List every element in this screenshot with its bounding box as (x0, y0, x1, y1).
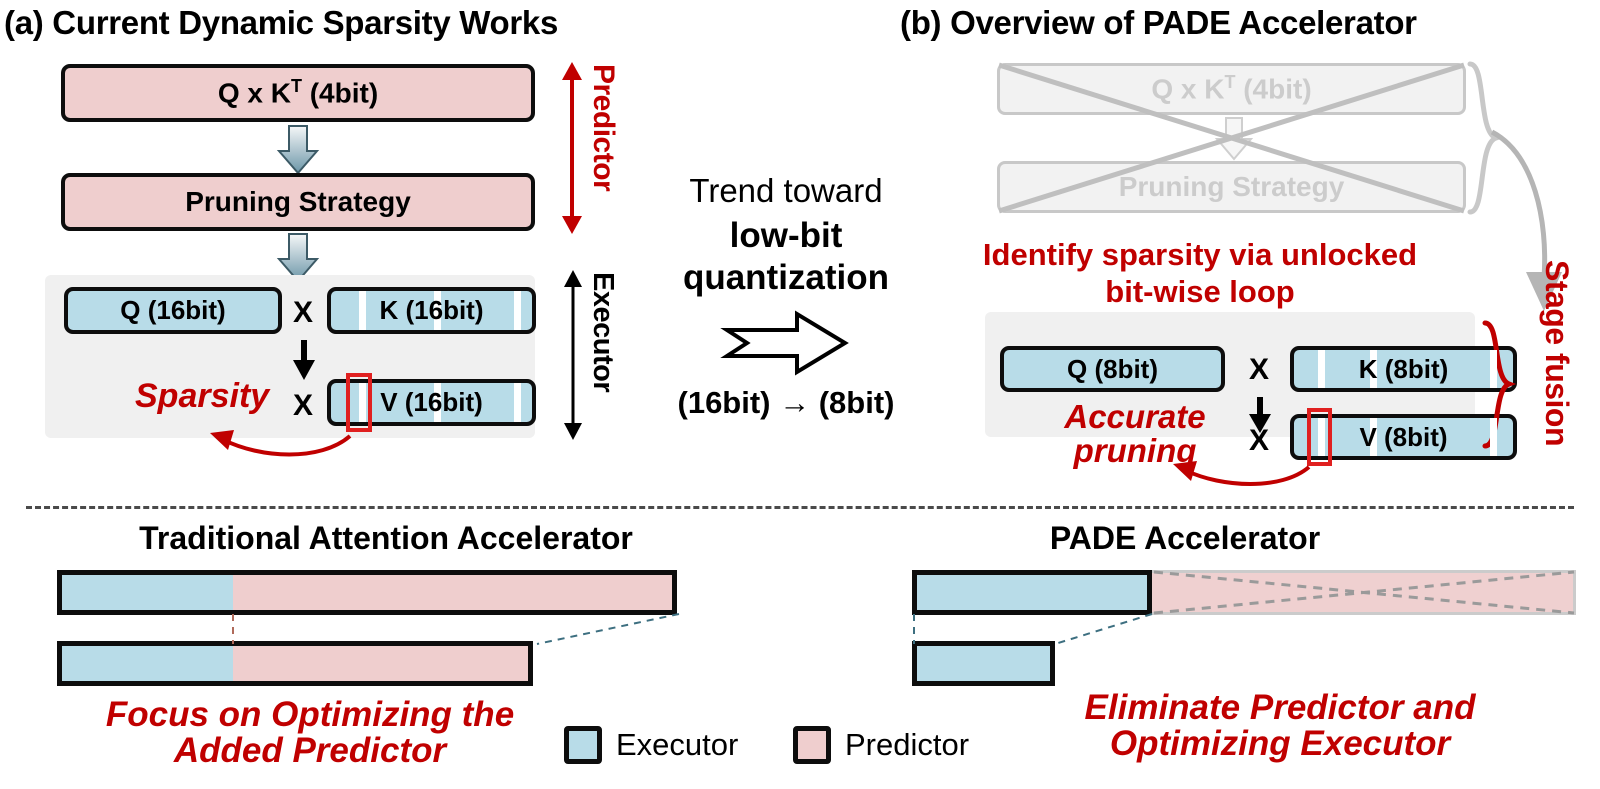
down-arrow-icon-3 (291, 340, 317, 380)
block-q-label: Q (16bit) (120, 295, 225, 326)
operator-x-a-1: X (293, 296, 313, 330)
block-qk-text: Q x K (218, 78, 291, 109)
bit-stripe (1490, 350, 1497, 388)
block-v-16bit: V (16bit) (327, 379, 536, 426)
block-k8-label: K (8bit) (1359, 354, 1449, 385)
predictor-range-arrow-icon (560, 62, 584, 234)
panel-a-title: (a) Current Dynamic Sparsity Works (4, 4, 558, 42)
pade-bar-executor (912, 570, 1152, 615)
bar-segment-executor (62, 646, 233, 681)
legend-label-executor: Executor (616, 727, 738, 763)
executor-range-arrow-icon (562, 270, 584, 440)
figure-root: (a) Current Dynamic Sparsity Works Q x K… (0, 0, 1600, 789)
traditional-accelerator-title: Traditional Attention Accelerator (86, 520, 686, 557)
bit-stripe (359, 383, 366, 422)
bit-stripe (1490, 418, 1497, 456)
strikethrough-cross-icon (997, 63, 1466, 213)
pade-predictor-strikethrough-icon (1152, 570, 1576, 615)
executor-vertical-label: Executor (586, 272, 619, 392)
bit-conversion-label: (16bit) → (8bit) (650, 385, 922, 421)
bit-stripe (514, 291, 521, 330)
predictor-vertical-label: Predictor (586, 64, 620, 191)
traditional-bar-baseline (57, 570, 677, 615)
trend-line-2: low-bit (650, 216, 922, 256)
block-pruning-strategy: Pruning Strategy (61, 173, 535, 231)
block-qk-4bit: Q x KT (4bit) (61, 64, 535, 122)
pade-accelerator-title: PADE Accelerator (865, 520, 1505, 557)
block-qk-bits: (4bit) (302, 78, 378, 109)
trend-line-1: Trend toward (650, 172, 922, 210)
stage-fusion-brace-icon (1481, 320, 1523, 450)
down-arrow-icon-1 (278, 126, 318, 174)
bar-connector-lines-right (905, 612, 1175, 648)
bar-segment-executor (917, 575, 1147, 610)
accurate-pruning-line-1: Accurate (1030, 400, 1240, 434)
block-k-16bit: K (16bit) (327, 287, 536, 334)
identify-sparsity-line-2: bit-wise loop (940, 275, 1460, 308)
block-v-label: V (16bit) (380, 387, 483, 418)
block-qk-superscript: T (291, 76, 302, 96)
traditional-caption-line-1: Focus on Optimizing the (40, 697, 580, 733)
block-q-8bit: Q (8bit) (1000, 346, 1225, 392)
bar-connector-lines-left (50, 612, 690, 648)
bit-stripe (1318, 418, 1325, 456)
pade-caption-line-2: Optimizing Executor (980, 726, 1580, 762)
sparsity-curve-arrow-icon (200, 410, 365, 460)
identify-sparsity-line-1: Identify sparsity via unlocked (940, 238, 1460, 271)
traditional-caption-line-2: Added Predictor (40, 733, 580, 769)
block-q-16bit: Q (16bit) (64, 287, 282, 334)
bar-segment-predictor (233, 575, 672, 610)
bar-segment-predictor (233, 646, 528, 681)
bar-segment-executor (917, 646, 1050, 681)
panel-b-title: (b) Overview of PADE Accelerator (900, 4, 1417, 42)
block-qk-label: Q x KT (4bit) (218, 76, 378, 109)
block-pruning-label: Pruning Strategy (185, 186, 411, 218)
bar-segment-executor (62, 575, 233, 610)
bit-stripe (514, 383, 521, 422)
trend-line-3: quantization (650, 258, 922, 298)
accurate-pruning-curve-arrow-icon (1163, 443, 1323, 489)
legend-swatch-predictor (793, 726, 831, 764)
legend-predictor: Predictor (793, 726, 969, 764)
block-q8-label: Q (8bit) (1067, 354, 1158, 385)
traditional-caption: Focus on Optimizing the Added Predictor (40, 697, 580, 768)
pade-caption-line-1: Eliminate Predictor and (980, 690, 1580, 726)
stage-fusion-label: Stage fusion (1538, 260, 1575, 446)
bit-stripe (1318, 350, 1325, 388)
pade-caption: Eliminate Predictor and Optimizing Execu… (980, 690, 1580, 761)
legend-executor: Executor (564, 726, 738, 764)
legend-swatch-executor (564, 726, 602, 764)
block-k-label: K (16bit) (380, 295, 484, 326)
sparsity-annotation: Sparsity (135, 379, 269, 414)
legend-label-predictor: Predictor (845, 727, 969, 763)
section-divider (26, 506, 1574, 509)
block-arrow-right-icon (725, 312, 847, 374)
bit-stripe (359, 291, 366, 330)
operator-x-b-1: X (1249, 353, 1269, 387)
block-v8-label: V (8bit) (1359, 422, 1447, 453)
